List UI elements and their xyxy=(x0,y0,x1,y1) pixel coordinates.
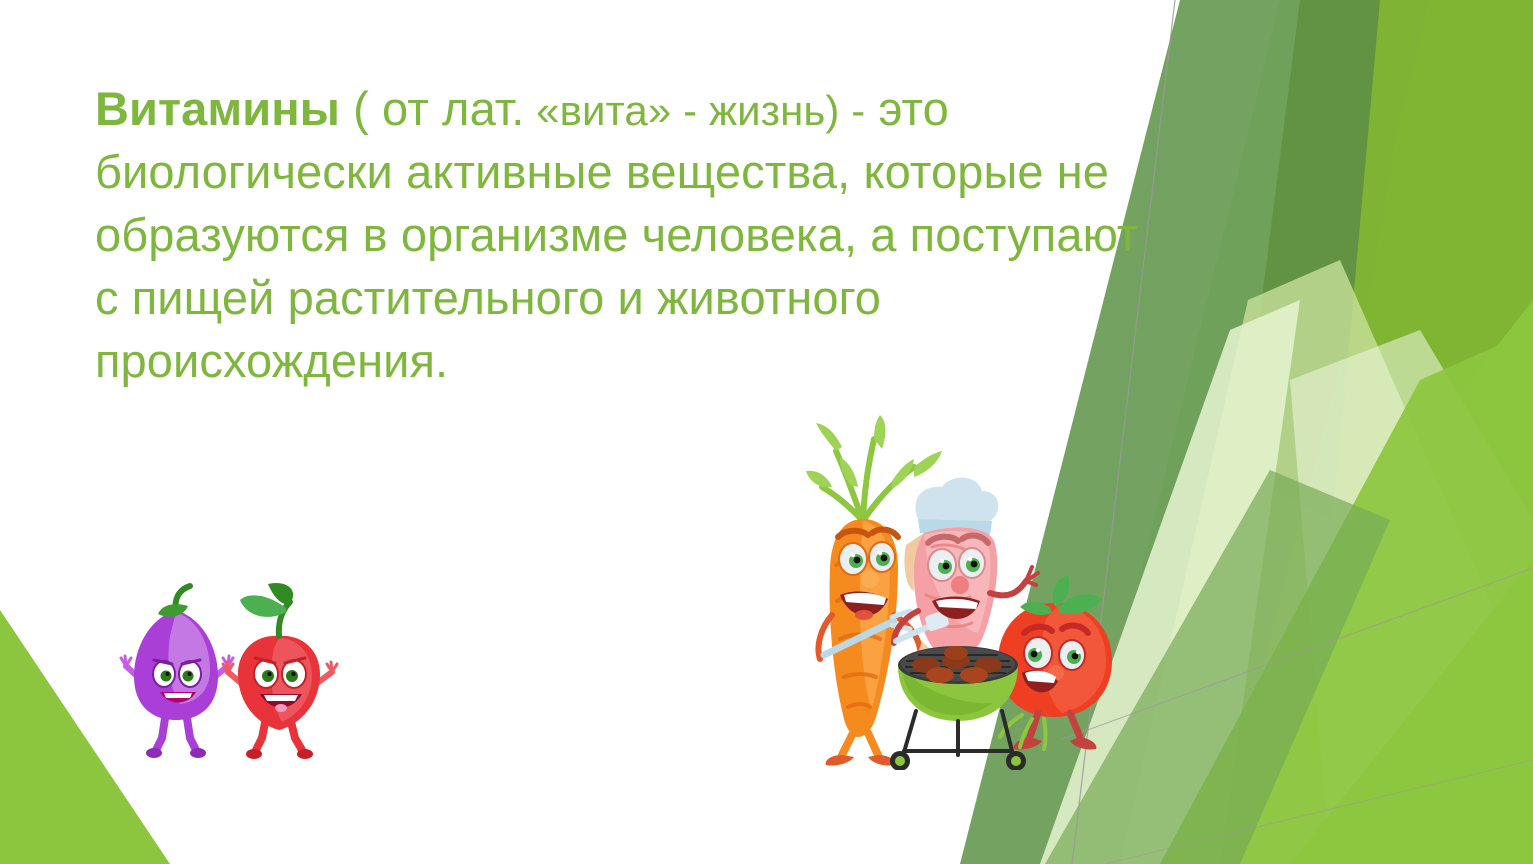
text-paren-open: ( от лат. xyxy=(340,82,524,135)
deco-blade-dark xyxy=(1240,0,1420,520)
purple-eggplant-character xyxy=(121,586,233,758)
deco-hairline-2 xyxy=(1060,568,1533,740)
red-apple-character xyxy=(223,583,337,759)
text-lead-term: Витамины xyxy=(95,82,340,135)
bbq-grill xyxy=(890,646,1026,770)
bbq-vegetable-characters-clipart xyxy=(806,415,1116,770)
eggplant-and-apple-clipart xyxy=(118,578,346,763)
deco-blade-pale-3 xyxy=(1290,330,1533,864)
slide-body-text: Витамины ( от лат. «вита» - жизнь) - это… xyxy=(95,78,1155,393)
slide-canvas: Витамины ( от лат. «вита» - жизнь) - это… xyxy=(0,0,1533,864)
text-latin-gloss: «вита» - жизнь) - xyxy=(524,87,865,134)
deco-hairline-3 xyxy=(1105,760,1533,864)
deco-sweep-lower xyxy=(1160,330,1533,864)
deco-sweep-lower-2 xyxy=(1290,560,1533,864)
deco-blade-bright xyxy=(1330,0,1533,560)
deco-blade-pale-1 xyxy=(1120,260,1533,864)
